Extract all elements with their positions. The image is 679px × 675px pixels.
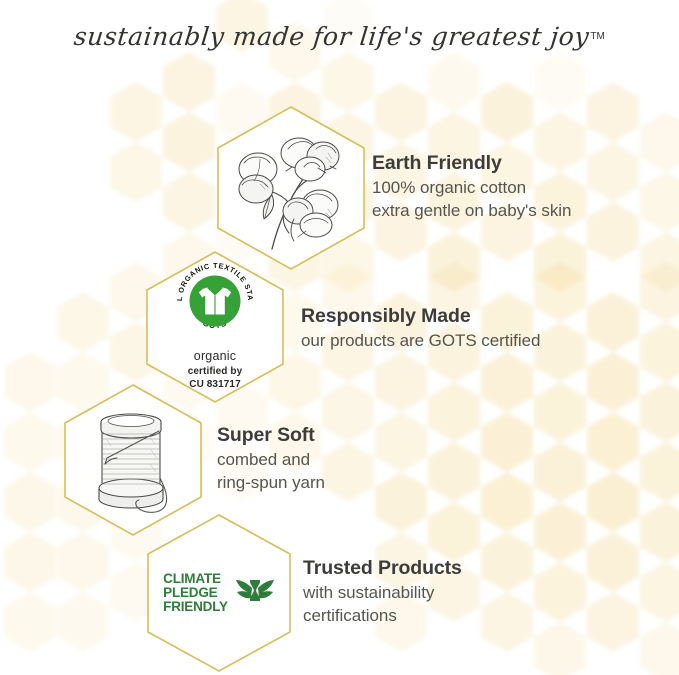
feature-title: Super Soft bbox=[217, 424, 325, 447]
page-headline: sustainably made for life's greatest joy… bbox=[0, 22, 679, 51]
winged-hourglass-icon bbox=[235, 576, 275, 610]
climate-pledge-wordmark: CLIMATE PLEDGE FRIENDLY bbox=[163, 572, 228, 614]
thread-spool-illustration bbox=[77, 400, 189, 520]
hex-badge-trusted-products: CLIMATE PLEDGE FRIENDLY bbox=[145, 512, 293, 674]
feature-text-responsibly-made: Responsibly Made our products are GOTS c… bbox=[301, 305, 540, 353]
feature-text-super-soft: Super Soft combed and ring-spun yarn bbox=[217, 424, 325, 494]
headline-text: sustainably made for life's greatest joy bbox=[73, 22, 591, 51]
trademark-symbol: TM bbox=[590, 31, 604, 42]
feature-title: Trusted Products bbox=[303, 557, 462, 580]
feature-desc-line-2: extra gentle on baby's skin bbox=[372, 200, 571, 223]
feature-text-earth-friendly: Earth Friendly 100% organic cotton extra… bbox=[372, 152, 571, 222]
cpf-line-climate: CLIMATE bbox=[163, 572, 228, 586]
cpf-line-friendly: FRIENDLY bbox=[163, 600, 228, 614]
gots-caption-organic: organic bbox=[194, 349, 236, 363]
feature-title: Earth Friendly bbox=[372, 152, 571, 175]
climate-pledge-friendly-logo: CLIMATE PLEDGE FRIENDLY bbox=[163, 572, 275, 614]
cotton-plant-illustration bbox=[232, 123, 350, 253]
cpf-line-pledge: PLEDGE bbox=[163, 586, 228, 600]
feature-text-trusted-products: Trusted Products with sustainability cer… bbox=[303, 557, 462, 627]
feature-desc-line-2: certifications bbox=[303, 605, 462, 628]
feature-desc-line-1: combed and bbox=[217, 449, 325, 472]
gots-seal-icon: GLOBAL ORGANIC TEXTILE STANDARD · GOTS · bbox=[172, 258, 258, 344]
sustainability-infographic: sustainably made for life's greatest joy… bbox=[0, 0, 679, 675]
feature-title: Responsibly Made bbox=[301, 305, 540, 328]
feature-desc-line-1: with sustainability bbox=[303, 582, 462, 605]
feature-desc-line-2: ring-spun yarn bbox=[217, 472, 325, 495]
feature-desc-line-1: 100% organic cotton bbox=[372, 177, 571, 200]
gots-certified-by-label: certified by bbox=[188, 366, 243, 379]
hex-badge-earth-friendly bbox=[215, 104, 367, 272]
feature-desc-line-1: our products are GOTS certified bbox=[301, 330, 540, 353]
gots-organic-seal: GLOBAL ORGANIC TEXTILE STANDARD · GOTS · bbox=[172, 258, 258, 392]
